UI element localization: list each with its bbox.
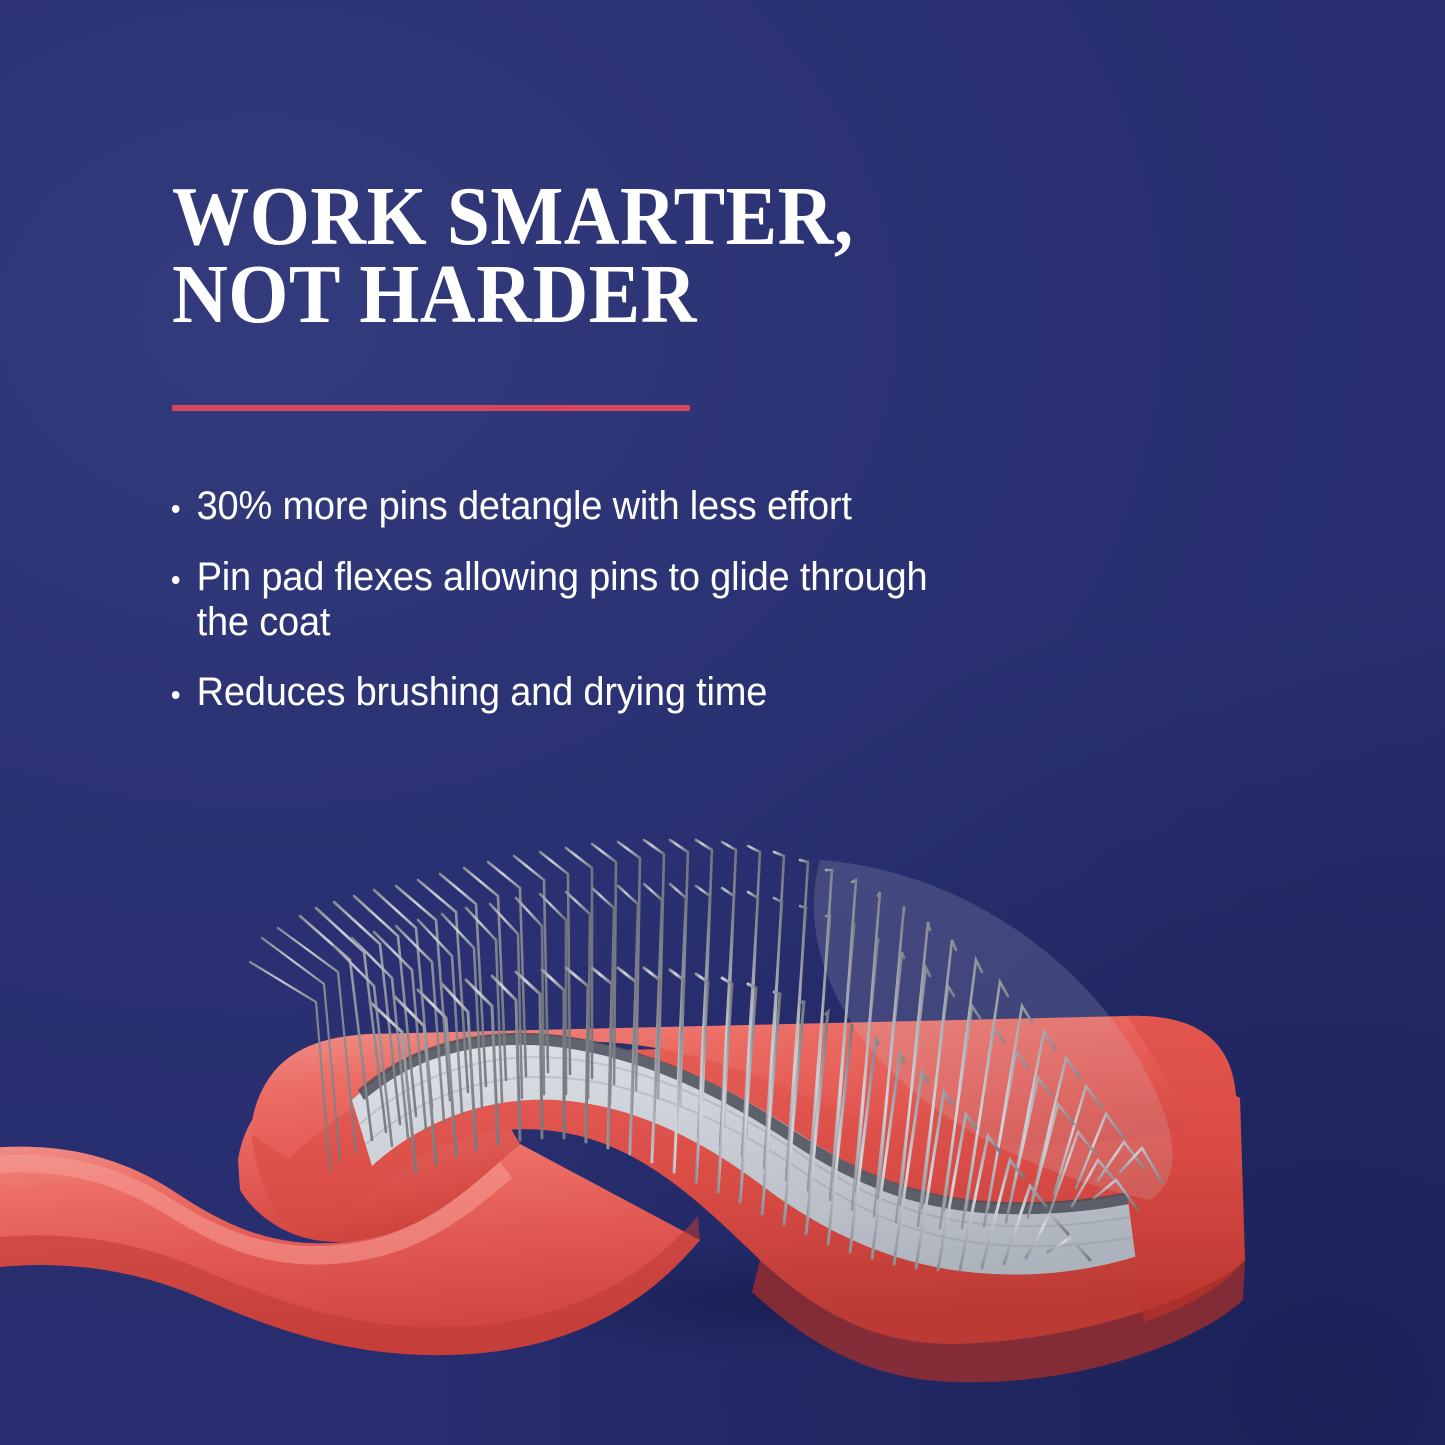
- copy-block: WORK SMARTER, NOT HARDER: [172, 178, 1052, 334]
- page-title: WORK SMARTER, NOT HARDER: [172, 178, 982, 334]
- bullet-text: Reduces brushing and drying time: [197, 670, 768, 714]
- bullet-dot-icon: [172, 576, 180, 584]
- bullet-dot-icon: [172, 505, 180, 513]
- promo-banner: WORK SMARTER, NOT HARDER 30% more pins d…: [0, 0, 1445, 1445]
- bullet-text: Pin pad flexes allowing pins to glide th…: [197, 555, 928, 644]
- bullet-text: 30% more pins detangle with less effort: [197, 484, 852, 528]
- list-item: Reduces brushing and drying time: [170, 670, 987, 715]
- list-item: Pin pad flexes allowing pins to glide th…: [170, 555, 987, 645]
- accent-divider: [172, 405, 690, 411]
- feature-bullet-list: 30% more pins detangle with less effort …: [170, 484, 1030, 715]
- slicker-brush-illustration: [0, 740, 1445, 1445]
- product-image: [0, 740, 1445, 1445]
- bullet-dot-icon: [172, 691, 180, 699]
- list-item: 30% more pins detangle with less effort: [170, 484, 987, 529]
